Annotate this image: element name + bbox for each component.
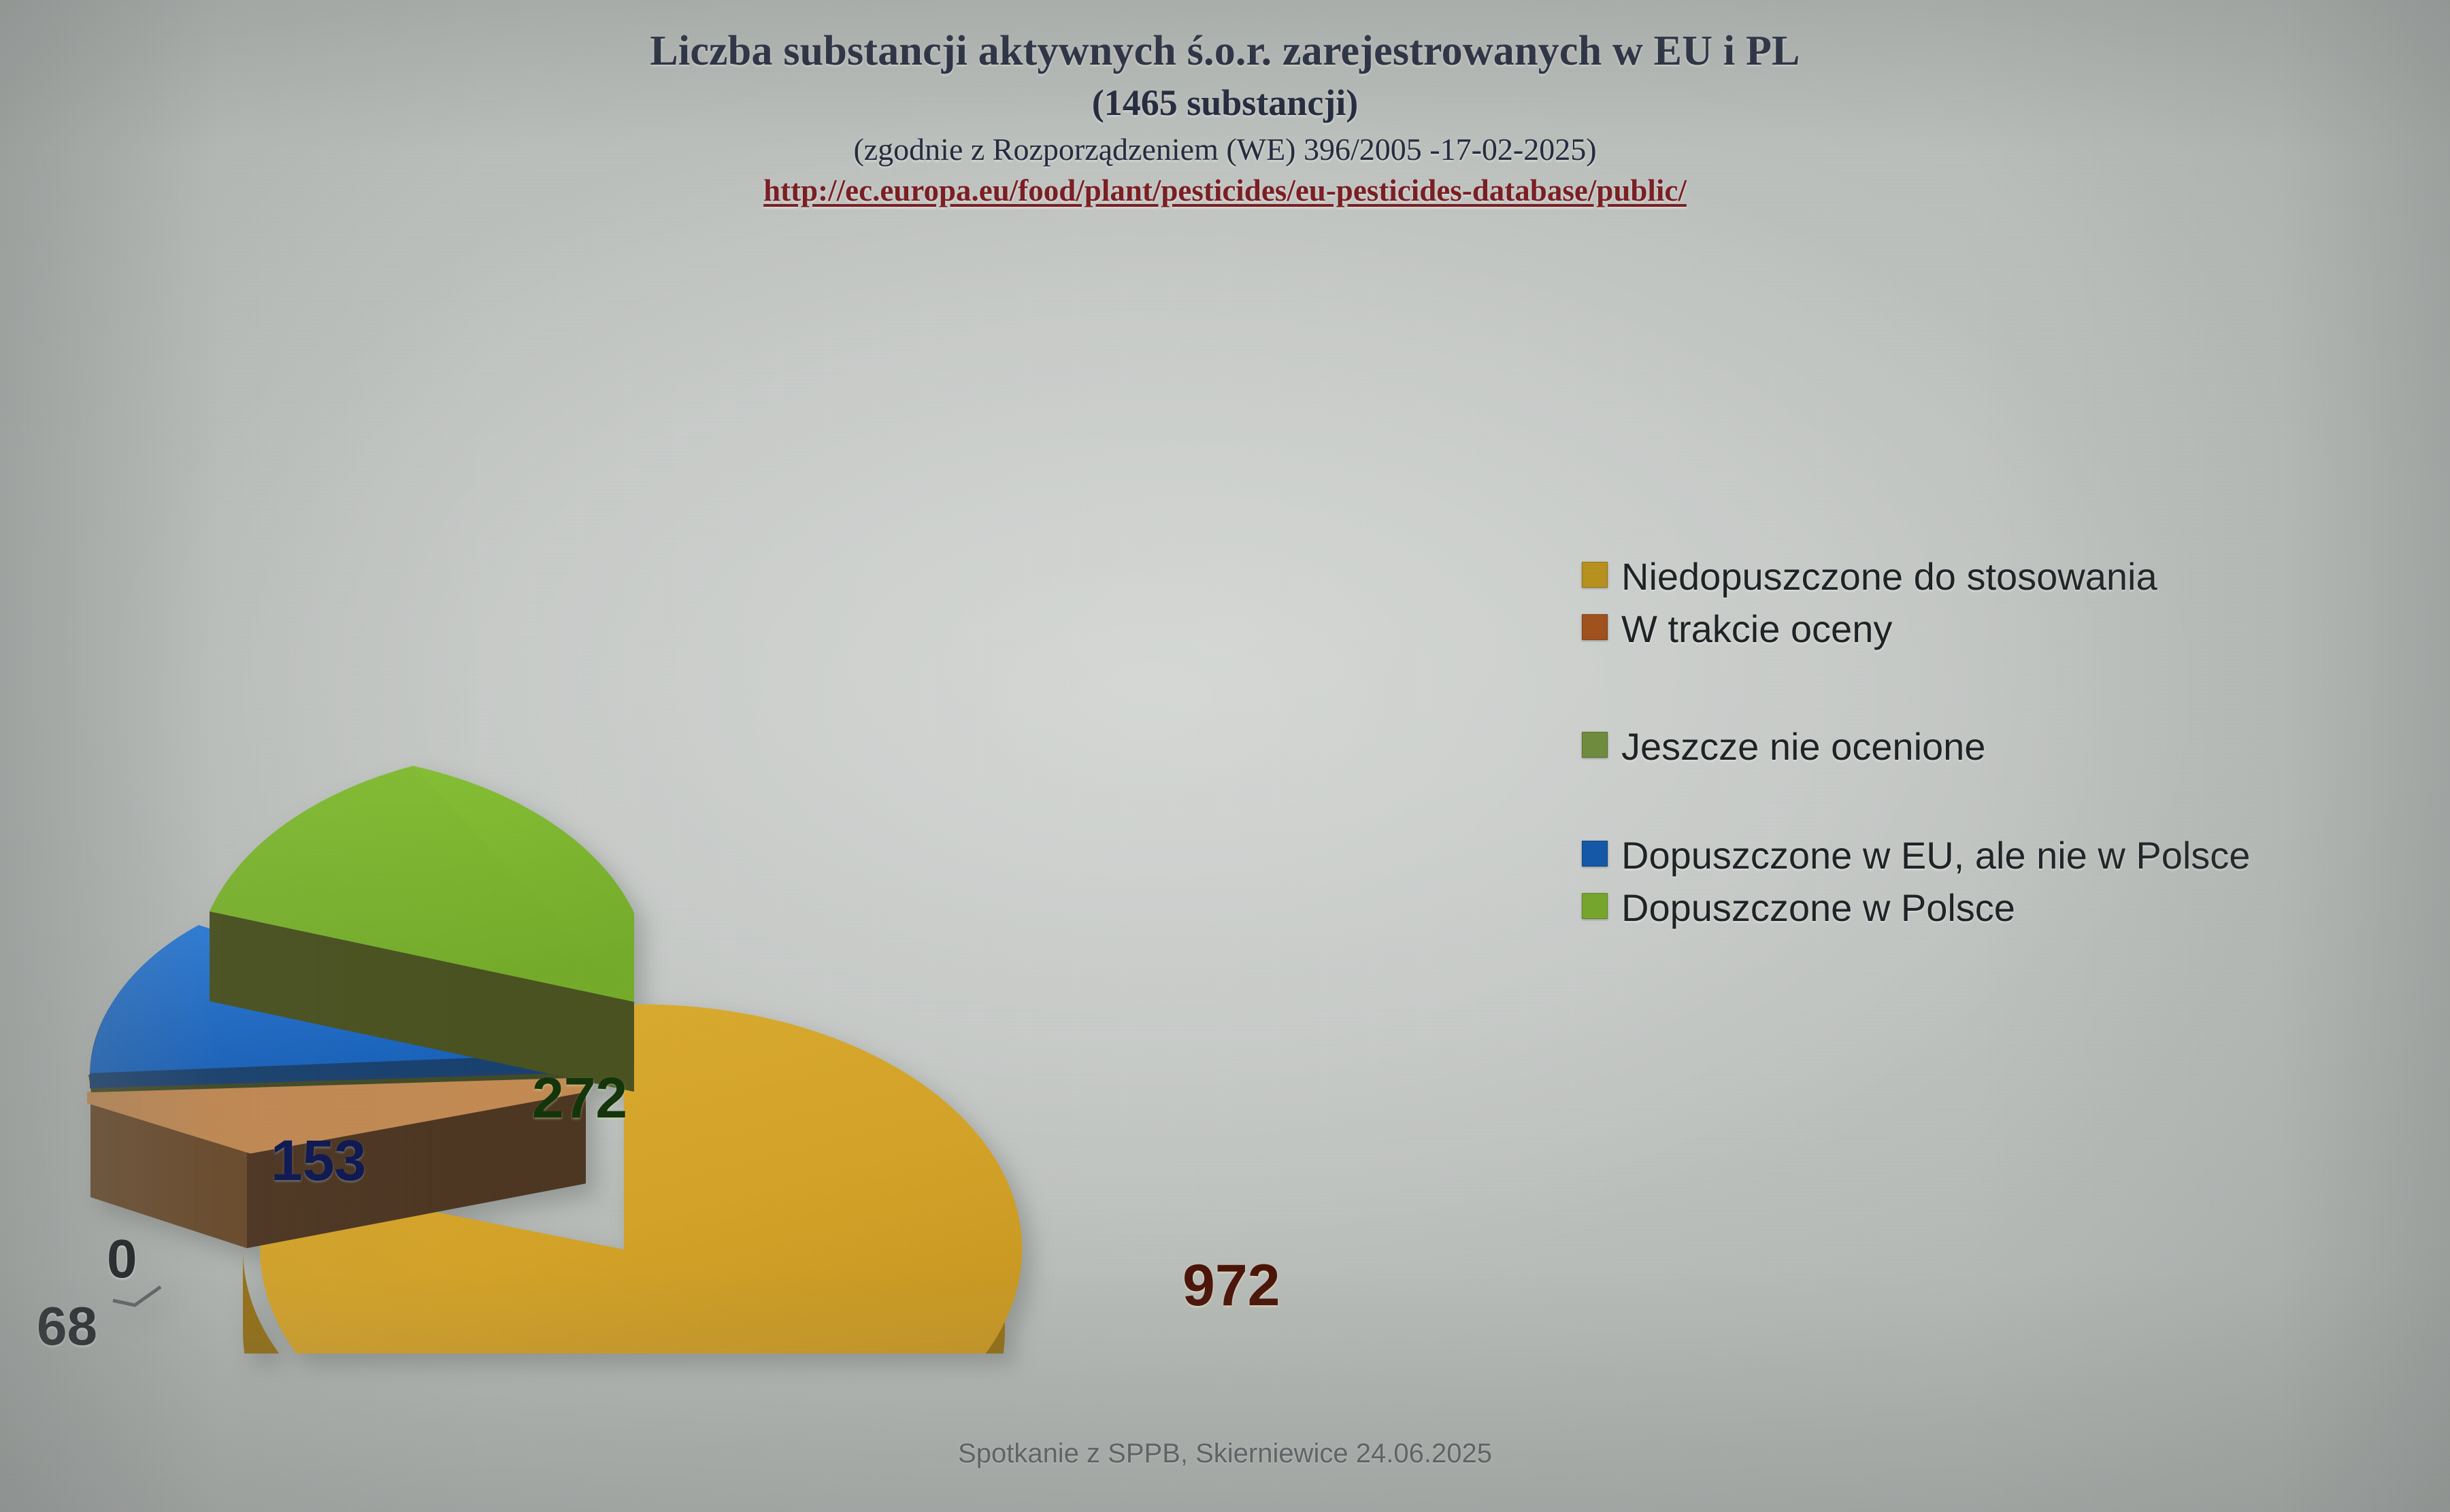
page-title: Liczba substancji aktywnych ś.o.r. zarej… bbox=[0, 27, 2450, 76]
pie-chart-svg bbox=[82, 476, 1524, 1354]
legend-item-dopuszczone-eu[interactable]: Dopuszczone w EU, ale nie w Polsce bbox=[1582, 831, 2385, 881]
legend-item-dopuszczone-polska[interactable]: Dopuszczone w Polsce bbox=[1582, 884, 2385, 933]
value-label-68: 68 bbox=[37, 1295, 97, 1358]
legend-swatch-icon bbox=[1582, 562, 1608, 588]
legend-swatch-icon bbox=[1582, 893, 1608, 919]
legend-label: Dopuszczone w EU, ale nie w Polsce bbox=[1621, 831, 2250, 881]
legend-label: Dopuszczone w Polsce bbox=[1621, 884, 2015, 933]
value-label-0: 0 bbox=[107, 1228, 137, 1290]
legend-swatch-icon bbox=[1582, 732, 1608, 758]
legend-spacer bbox=[1582, 657, 2385, 722]
legend-item-w-trakcie-oceny[interactable]: W trakcie oceny bbox=[1582, 605, 2385, 654]
legend-label: W trakcie oceny bbox=[1621, 605, 1892, 654]
legend-label: Jeszcze nie ocenione bbox=[1621, 722, 1985, 772]
slide-header: Liczba substancji aktywnych ś.o.r. zarej… bbox=[0, 27, 2450, 208]
subtitle-count: (1465 substancji) bbox=[0, 82, 2450, 124]
legend-item-jeszcze-nie-ocenione[interactable]: Jeszcze nie ocenione bbox=[1582, 722, 2385, 772]
value-label-272: 272 bbox=[532, 1065, 627, 1131]
subtitle-regulation: (zgodnie z Rozporządzeniem (WE) 396/2005… bbox=[0, 131, 2450, 167]
chart-legend: Niedopuszczone do stosowania W trakcie o… bbox=[1582, 552, 2385, 936]
value-label-153: 153 bbox=[271, 1128, 366, 1194]
legend-label: Niedopuszczone do stosowania bbox=[1621, 552, 2157, 602]
legend-swatch-icon bbox=[1582, 614, 1608, 640]
legend-spacer bbox=[1582, 774, 2385, 831]
legend-swatch-icon bbox=[1582, 841, 1608, 867]
pie-chart: 972 272 153 0 68 bbox=[82, 476, 1524, 1354]
slide-footer: Spotkanie z SPPB, Skierniewice 24.06.202… bbox=[0, 1439, 2450, 1469]
legend-item-niedopuszczone[interactable]: Niedopuszczone do stosowania bbox=[1582, 552, 2385, 602]
source-url-link[interactable]: http://ec.europa.eu/food/plant/pesticide… bbox=[0, 173, 2450, 208]
value-label-972: 972 bbox=[1182, 1252, 1280, 1320]
